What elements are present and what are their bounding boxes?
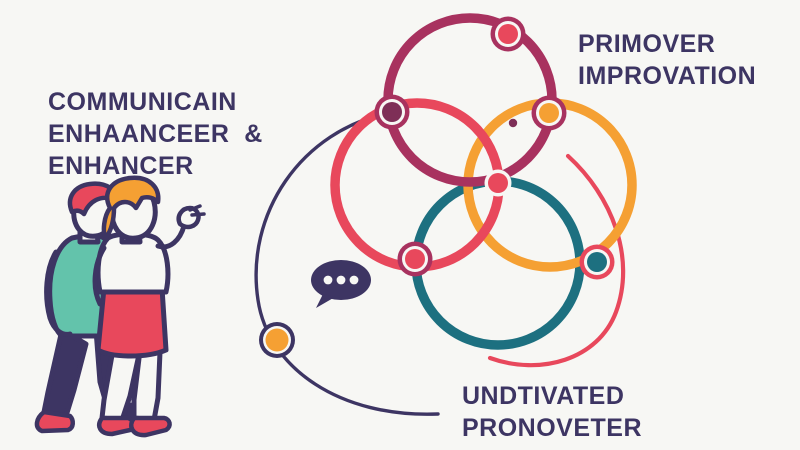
accent-dot bbox=[509, 119, 517, 127]
node-center[interactable] bbox=[485, 170, 512, 197]
speech-dot-1 bbox=[324, 276, 333, 285]
node-left-lower[interactable] bbox=[398, 242, 433, 277]
label-primover-improvation: PRIMOVER IMPROVATION bbox=[578, 28, 756, 92]
node-right-upper[interactable] bbox=[532, 96, 567, 131]
node-left-upper[interactable] bbox=[375, 95, 410, 130]
label-communication-enhancer: COMMUNICAIN ENHAANCEER & ENHANCER bbox=[48, 86, 263, 182]
speech-dot-3 bbox=[350, 276, 359, 285]
speech-dot-2 bbox=[337, 276, 346, 285]
node-right-lower[interactable] bbox=[580, 245, 615, 280]
node-outer-orange[interactable] bbox=[259, 322, 295, 358]
node-top[interactable] bbox=[491, 17, 526, 52]
label-undtivated-pronoveter: UNDTIVATED PRONOVETER bbox=[462, 380, 642, 444]
infographic-canvas: COMMUNICAIN ENHAANCEER & ENHANCER PRIMOV… bbox=[0, 0, 800, 450]
